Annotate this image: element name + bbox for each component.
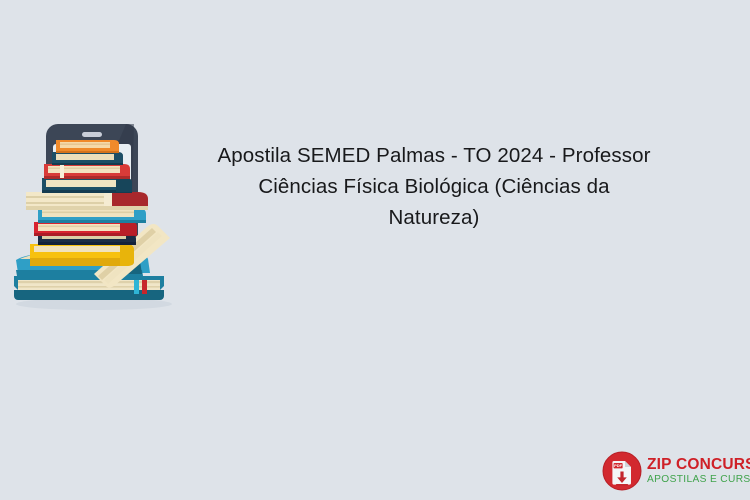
book-stack — [14, 140, 170, 300]
book-darkred-pages — [26, 192, 148, 210]
product-title-line-2: Ciências Física Biológica (Ciências da — [176, 171, 692, 202]
product-title: Apostila SEMED Palmas - TO 2024 - Profes… — [176, 140, 692, 233]
tablet-with-book-stack-illustration — [8, 118, 183, 313]
tablet-speaker — [82, 132, 102, 137]
book-orange-top — [56, 140, 119, 153]
brand-name: ZIP CONCURSOS — [647, 457, 750, 473]
book-red-upper — [44, 164, 130, 179]
book-navy-upper — [42, 178, 132, 193]
pdf-download-icon: PDF — [602, 451, 642, 491]
brand-logo[interactable]: PDF ZIP CONCURSOS APOSTILAS E CURSOS — [602, 450, 746, 492]
bookmark-ribbon-red — [142, 280, 147, 294]
book-base — [14, 276, 164, 300]
svg-text:PDF: PDF — [614, 463, 623, 468]
book-teal-upper — [52, 152, 123, 165]
brand-text-block: ZIP CONCURSOS APOSTILAS E CURSOS — [647, 457, 750, 486]
book-red-mid — [34, 222, 137, 236]
product-title-line-1: Apostila SEMED Palmas - TO 2024 - Profes… — [176, 140, 692, 171]
brand-tagline: APOSTILAS E CURSOS — [647, 475, 750, 485]
product-title-line-3: Natureza) — [176, 202, 692, 233]
book-yellow — [30, 244, 134, 266]
book-teal-mid — [38, 208, 146, 223]
product-banner: Apostila SEMED Palmas - TO 2024 - Profes… — [0, 0, 750, 500]
bookmark-ribbon-cyan — [134, 280, 139, 294]
